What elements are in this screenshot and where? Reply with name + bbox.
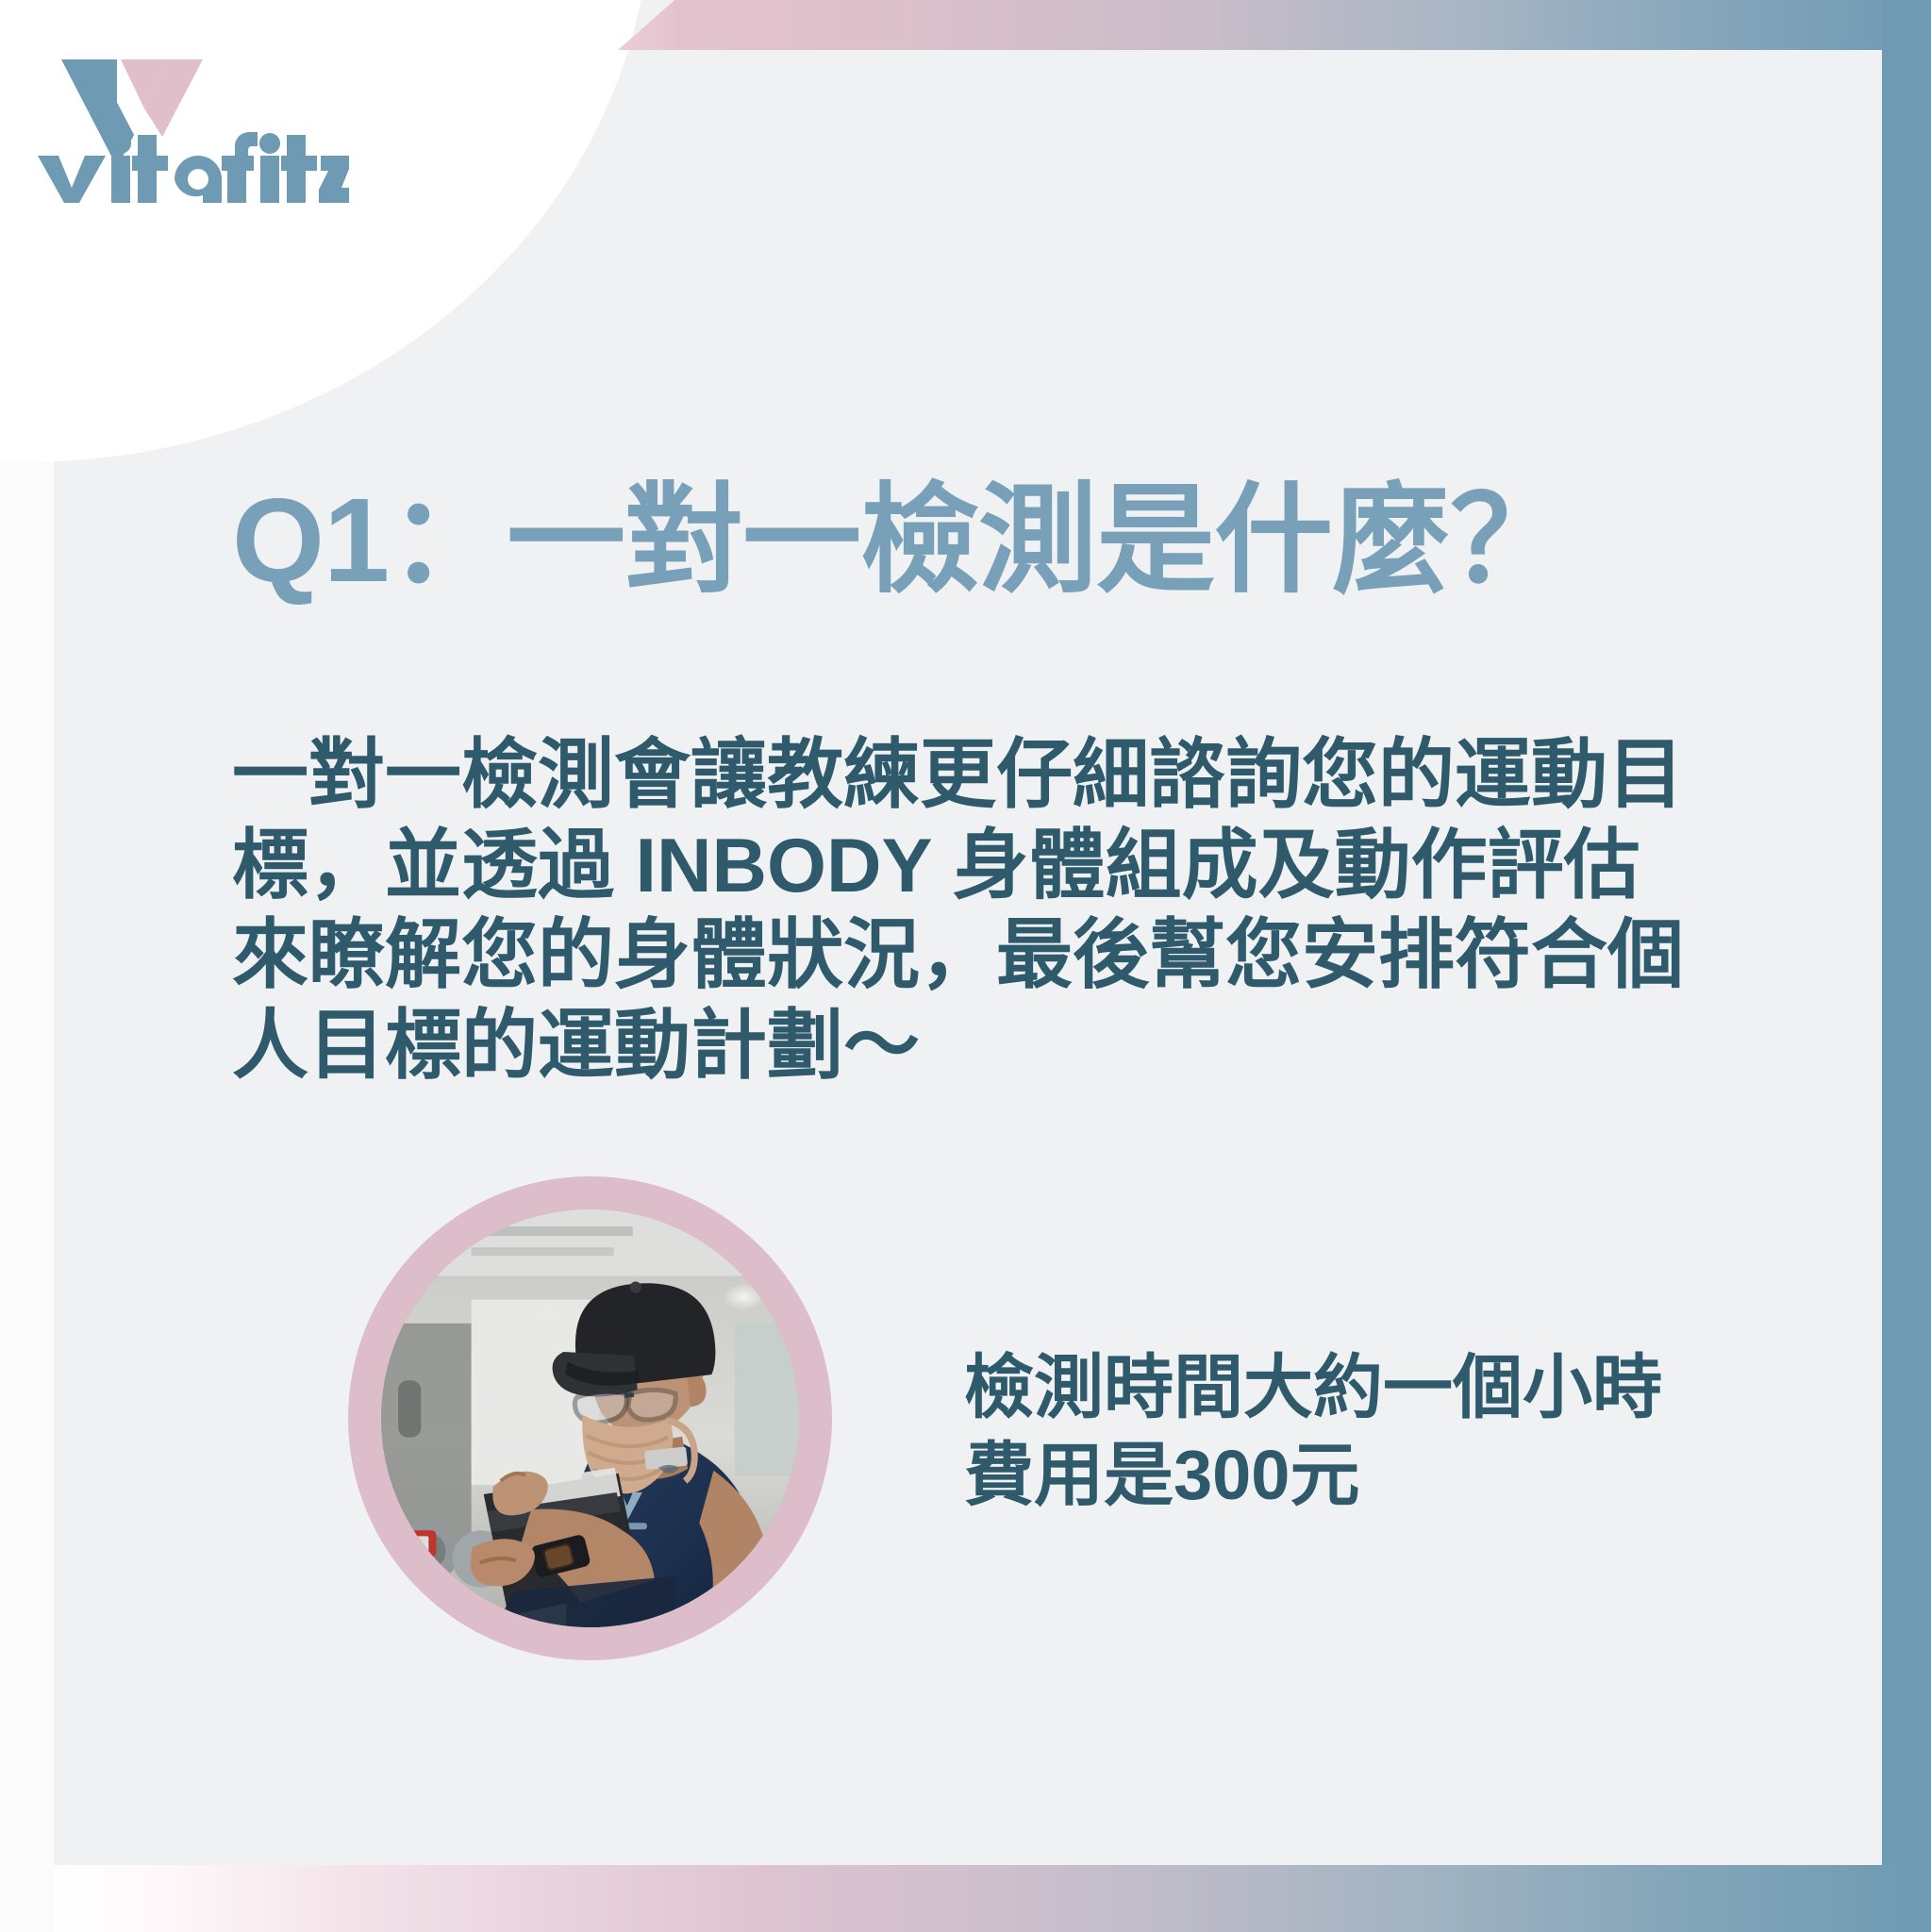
page-title: Q1：一對一檢測是什麼？ [232, 481, 1779, 600]
poster-canvas: Q1：一對一檢測是什麼？ 一對一檢測會讓教練更仔細諮詢您的運動目 標，並透過 I… [0, 0, 1931, 1932]
bottom-gradient-band [54, 1865, 1931, 1932]
vitafitz-logo [38, 52, 349, 203]
vitafitz-logo-icon [38, 52, 349, 203]
body-paragraph: 一對一檢測會讓教練更仔細諮詢您的運動目 標，並透過 INBODY 身體組成及動作… [232, 731, 1789, 1091]
photo-ring [348, 1176, 832, 1660]
body-line: 一對一檢測會讓教練更仔細諮詢您的運動目 [232, 731, 1789, 822]
note-line-duration: 檢測時間大約一個小時 [964, 1343, 1813, 1431]
trainer-photo-illustration [381, 1209, 799, 1627]
top-gradient-band [674, 0, 1931, 50]
trainer-photo [381, 1209, 799, 1627]
body-line: 標，並透過 INBODY 身體組成及動作評估 [232, 822, 1789, 912]
right-blue-band [1882, 0, 1931, 1932]
note-line-price: 費用是300元 [964, 1431, 1813, 1519]
duration-price-note: 檢測時間大約一個小時 費用是300元 [964, 1343, 1813, 1519]
body-line: 來瞭解您的身體狀況，最後幫您安排符合個 [232, 911, 1789, 1002]
body-line: 人目標的運動計劃～ [232, 1002, 1789, 1092]
